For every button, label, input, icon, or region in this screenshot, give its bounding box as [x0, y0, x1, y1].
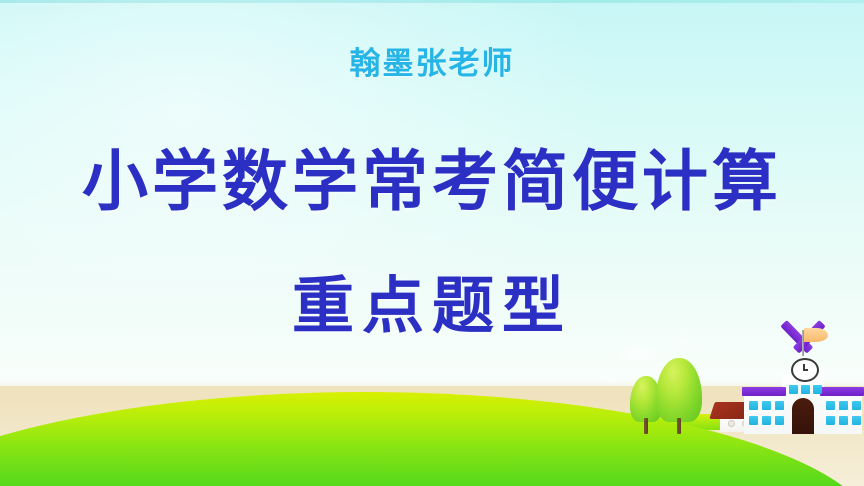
- school-band-left: [742, 387, 786, 396]
- cottage-window-icon: [728, 420, 735, 427]
- tree-trunk-icon: [644, 418, 648, 434]
- school-window-icon: [813, 385, 822, 394]
- school-band-right: [820, 387, 864, 396]
- school-window-icon: [826, 401, 835, 410]
- school-window-icon: [789, 385, 798, 394]
- school-window-icon: [852, 401, 861, 410]
- school-window-icon: [839, 401, 848, 410]
- school-wing-left: [744, 390, 784, 434]
- school-window-icon: [852, 416, 861, 425]
- school-window-icon: [749, 401, 758, 410]
- school-window-icon: [839, 416, 848, 425]
- school-window-icon: [762, 401, 771, 410]
- top-edge-accent: [0, 0, 864, 3]
- page-title-line-2: 重点题型: [0, 255, 864, 345]
- page-title-line-1: 小学数学常考简便计算: [0, 128, 864, 224]
- tree-trunk-icon: [677, 418, 681, 434]
- clock-icon: [791, 358, 819, 382]
- school-window-icon: [749, 416, 758, 425]
- tree-big: [656, 358, 702, 434]
- school-window-icon: [775, 401, 784, 410]
- school-window-icon: [801, 385, 810, 394]
- presentation-slide: 翰墨张老师 小学数学常考简便计算 重点题型: [0, 0, 864, 486]
- school-door-icon: [792, 398, 814, 434]
- school-window-icon: [775, 416, 784, 425]
- school-window-icon: [826, 416, 835, 425]
- school-window-icon: [762, 416, 771, 425]
- channel-name: 翰墨张老师: [0, 38, 864, 83]
- school-wing-right: [822, 390, 862, 434]
- tree-crown-icon: [656, 358, 702, 422]
- cloud-wisp-icon: [622, 348, 656, 361]
